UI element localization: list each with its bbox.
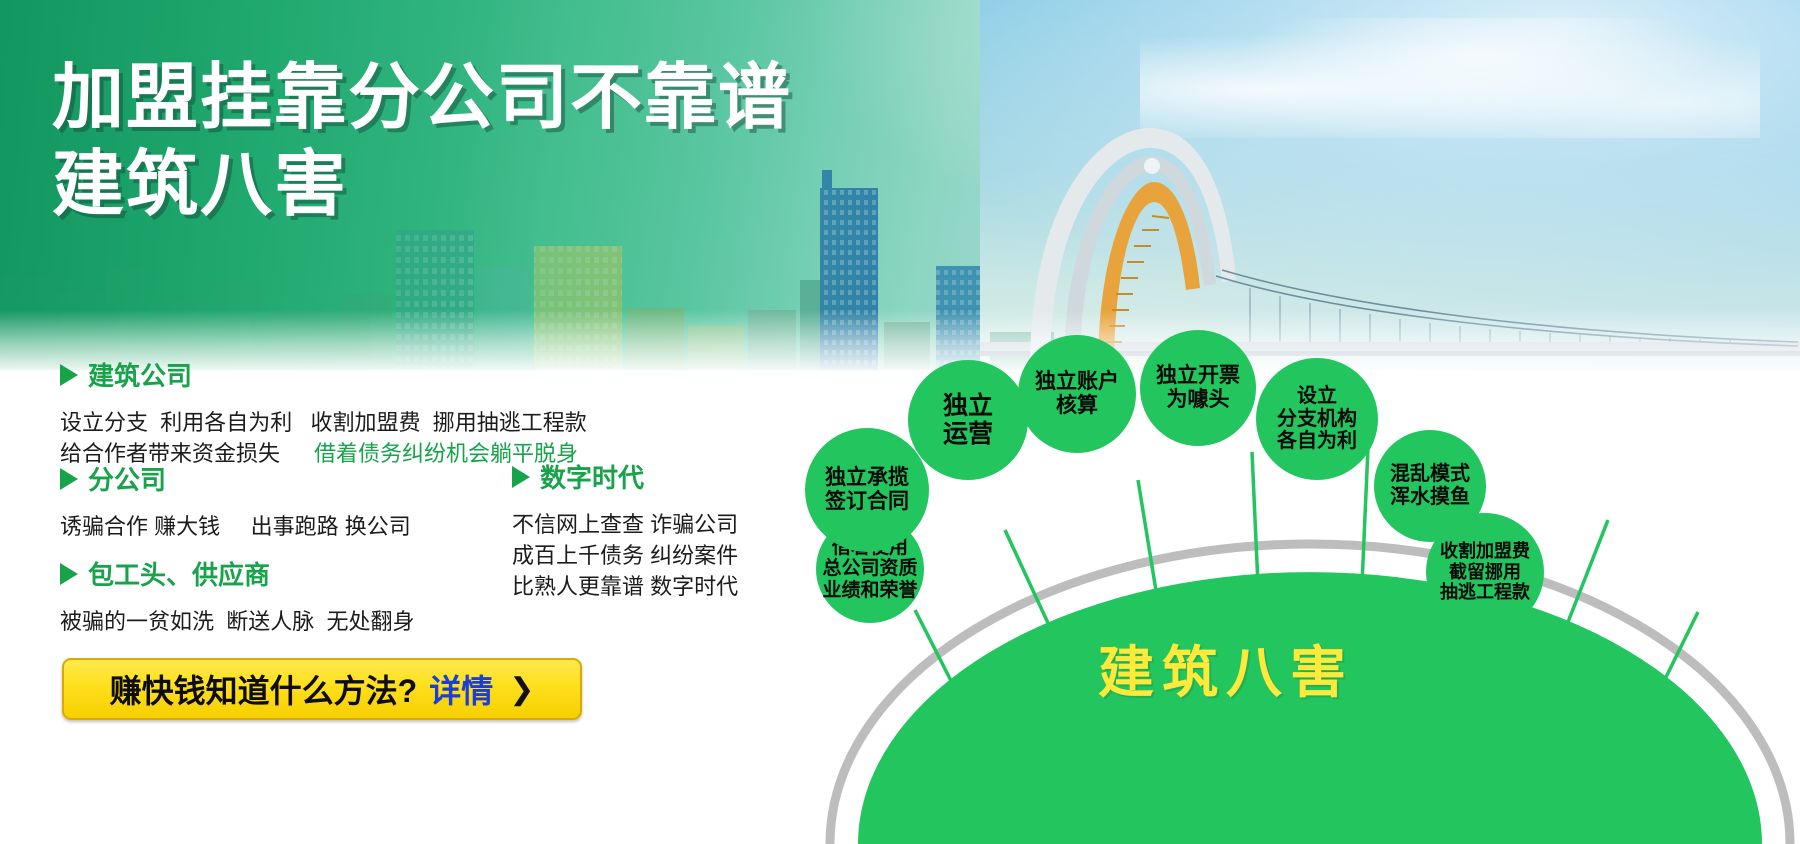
bubble-line: 混乱模式 xyxy=(1390,463,1470,486)
bubble-line: 分支机构 xyxy=(1277,408,1357,431)
chevron-right-icon: ❯ xyxy=(509,672,534,707)
section-heading-label: 数字时代 xyxy=(540,458,644,495)
section-body-branch-company: 诱骗合作 赚大钱 出事跑路 换公司 xyxy=(60,511,411,542)
bubble-item[interactable]: 设立 分支机构 各自为利 xyxy=(1256,358,1378,480)
bubble-line: 独立 xyxy=(943,392,993,421)
section-branch-company: 分公司 诱骗合作 赚大钱 出事跑路 换公司 xyxy=(60,460,411,542)
bubble-line: 为噱头 xyxy=(1156,388,1240,412)
bubble-line: 总公司资质 xyxy=(822,558,917,580)
body-text-line: 不信网上查查 诈骗公司 xyxy=(512,509,738,540)
bubble-diagram: 借着使用 总公司资质 业绩和荣誉 独立承揽 签订合同 独立 运营 独立账户 核算 xyxy=(820,330,1800,844)
bubble-line: 业绩和荣誉 xyxy=(822,580,917,602)
left-content-column: 建筑公司 设立分支 利用各自为利 收割加盟费 挪用抽逃工程款 给合作者带来资金损… xyxy=(0,370,830,844)
section-heading-contractor-supplier: 包工头、供应商 xyxy=(60,555,414,592)
hero-banner: 加盟挂靠分公司不靠谱 建筑八害 xyxy=(0,0,1800,370)
bubble-line: 截留挪用 xyxy=(1440,562,1530,583)
bubble-line: 抽逃工程款 xyxy=(1440,582,1530,603)
bubble-line: 运营 xyxy=(943,420,993,449)
section-heading-branch-company: 分公司 xyxy=(60,460,411,497)
section-digital-era: 数字时代 不信网上查查 诈骗公司 成百上千债务 纠纷案件 比熟人更靠谱 数字时代 xyxy=(512,458,738,603)
body-text-line: 比熟人更靠谱 数字时代 xyxy=(512,571,738,602)
body-text-line: 设立分支 利用各自为利 收割加盟费 挪用抽逃工程款 xyxy=(60,407,587,438)
bubble-line: 核算 xyxy=(1035,394,1119,418)
section-heading-label: 分公司 xyxy=(88,460,166,497)
triangle-bullet-icon xyxy=(60,563,78,585)
body-text-line: 成百上千债务 纠纷案件 xyxy=(512,540,738,571)
bubble-line: 独立账户 xyxy=(1035,370,1119,394)
bubble-line: 浑水摸鱼 xyxy=(1390,486,1470,509)
bubble-line: 设立 xyxy=(1277,385,1357,408)
triangle-bullet-icon xyxy=(512,466,530,488)
body-text-line: 被骗的一贫如洗 断送人脉 无处翻身 xyxy=(60,606,414,637)
bubble-item[interactable]: 独立 运营 xyxy=(908,360,1028,480)
section-heading-label: 建筑公司 xyxy=(88,356,192,393)
section-heading-label: 包工头、供应商 xyxy=(88,555,270,592)
triangle-bullet-icon xyxy=(60,468,78,490)
banner-root: 加盟挂靠分公司不靠谱 建筑八害 建筑公司 设立分支 利用各自为利 收割加盟费 挪… xyxy=(0,0,1800,844)
bubble-line: 各自为利 xyxy=(1277,430,1357,453)
bubble-item[interactable]: 独立开票 为噱头 xyxy=(1140,330,1256,446)
hero-title: 加盟挂靠分公司不靠谱 建筑八害 xyxy=(52,62,792,223)
cta-button[interactable]: 赚快钱知道什么方法? 详情 ❯ xyxy=(62,658,582,720)
section-body-contractor-supplier: 被骗的一贫如洗 断送人脉 无处翻身 xyxy=(60,606,414,637)
section-body-digital-era: 不信网上查查 诈骗公司 成百上千债务 纠纷案件 比熟人更靠谱 数字时代 xyxy=(512,509,738,603)
bubble-line: 独立承揽 xyxy=(825,466,909,490)
bubble-item[interactable]: 独立账户 核算 xyxy=(1018,335,1136,453)
triangle-bullet-icon xyxy=(60,364,78,386)
hero-title-line2: 建筑八害 xyxy=(52,149,792,222)
hero-title-line1: 加盟挂靠分公司不靠谱 xyxy=(52,62,792,135)
bubble-item[interactable]: 独立承揽 签订合同 xyxy=(805,428,929,552)
bubble-line: 独立开票 xyxy=(1156,364,1240,388)
section-construction-company: 建筑公司 设立分支 利用各自为利 收割加盟费 挪用抽逃工程款 给合作者带来资金损… xyxy=(60,356,587,469)
dome-center-title: 建筑八害 xyxy=(1098,628,1354,709)
cta-main-label: 赚快钱知道什么方法? xyxy=(110,666,418,712)
bubble-line: 签订合同 xyxy=(825,490,909,514)
section-heading-construction-company: 建筑公司 xyxy=(60,356,587,393)
body-text-line: 诱骗合作 赚大钱 出事跑路 换公司 xyxy=(60,511,411,542)
bubble-line: 收割加盟费 xyxy=(1440,541,1530,562)
cta-link-label[interactable]: 详情 xyxy=(429,666,493,712)
section-heading-digital-era: 数字时代 xyxy=(512,458,738,495)
section-contractor-supplier: 包工头、供应商 被骗的一贫如洗 断送人脉 无处翻身 xyxy=(60,555,414,637)
bubble-item[interactable]: 收割加盟费 截留挪用 抽逃工程款 xyxy=(1426,513,1544,631)
